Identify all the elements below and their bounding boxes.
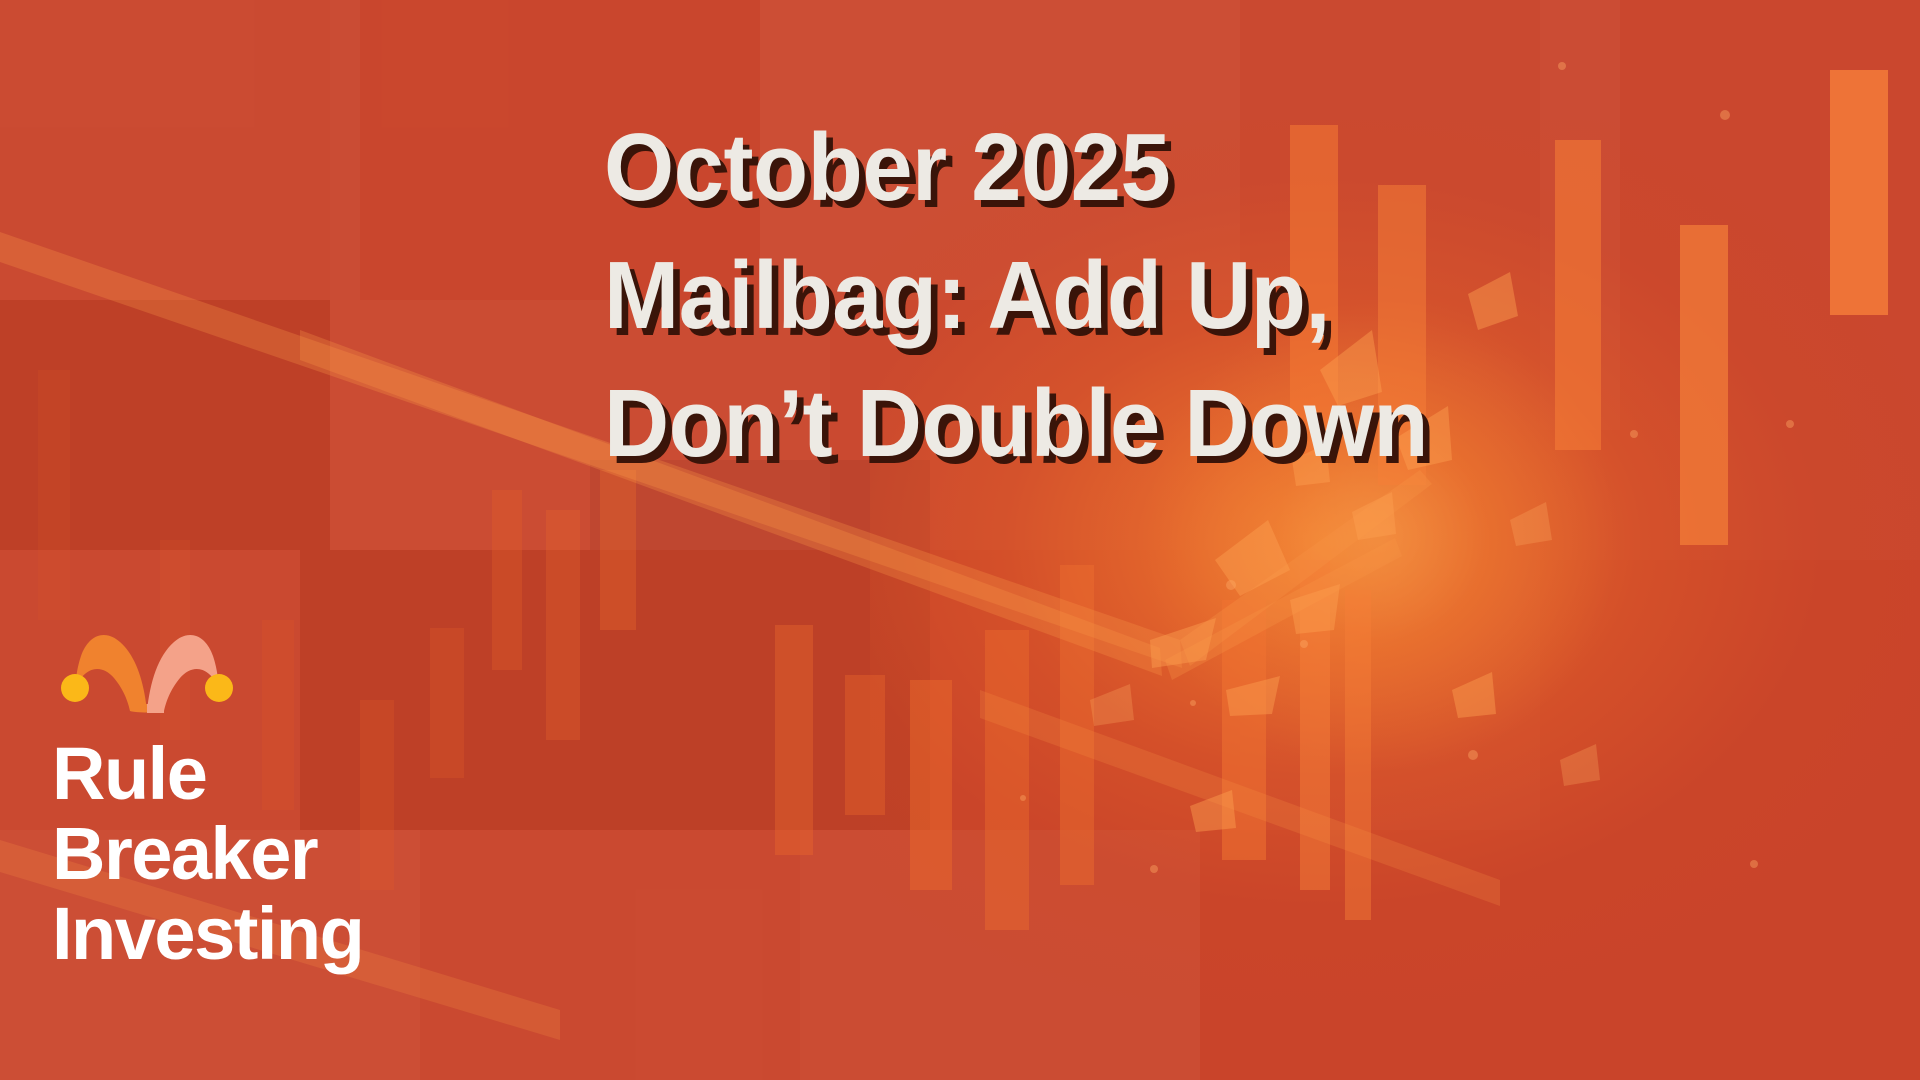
hat-bell-left [61, 674, 89, 702]
jester-hat-icon [58, 612, 236, 716]
hat-right-lobe [147, 635, 218, 711]
hat-bell-right [205, 674, 233, 702]
background-block [0, 0, 360, 300]
background-block [0, 300, 330, 550]
brand-line-1: Rule [52, 734, 363, 814]
brand-line-3: Investing [52, 894, 363, 974]
background-block [420, 830, 800, 1080]
candlestick-bar [492, 490, 522, 670]
particle-dot [1558, 62, 1566, 70]
candlestick-bar [775, 625, 813, 855]
candlestick-bar [546, 510, 580, 740]
title-line-3: Don’t Double Down [604, 360, 1826, 488]
hat-left-lobe [76, 635, 147, 711]
title-line-2: Mailbag: Add Up, [604, 232, 1826, 360]
podcast-cover-art: October 2025 Mailbag: Add Up, Don’t Doub… [0, 0, 1920, 1080]
candlestick-bar [38, 370, 70, 620]
jester-hat-svg [58, 612, 236, 716]
title-line-1: October 2025 [604, 104, 1826, 232]
brand-wordmark: Rule Breaker Investing [52, 734, 363, 974]
hat-band-right [147, 704, 164, 713]
candlestick-bar [600, 470, 636, 630]
rule-breaker-investing-logo: Rule Breaker Investing [52, 612, 363, 974]
candlestick-bar [430, 628, 464, 778]
brand-line-2: Breaker [52, 814, 363, 894]
episode-title: October 2025 Mailbag: Add Up, Don’t Doub… [604, 104, 1904, 488]
candlestick-bar [360, 700, 394, 890]
